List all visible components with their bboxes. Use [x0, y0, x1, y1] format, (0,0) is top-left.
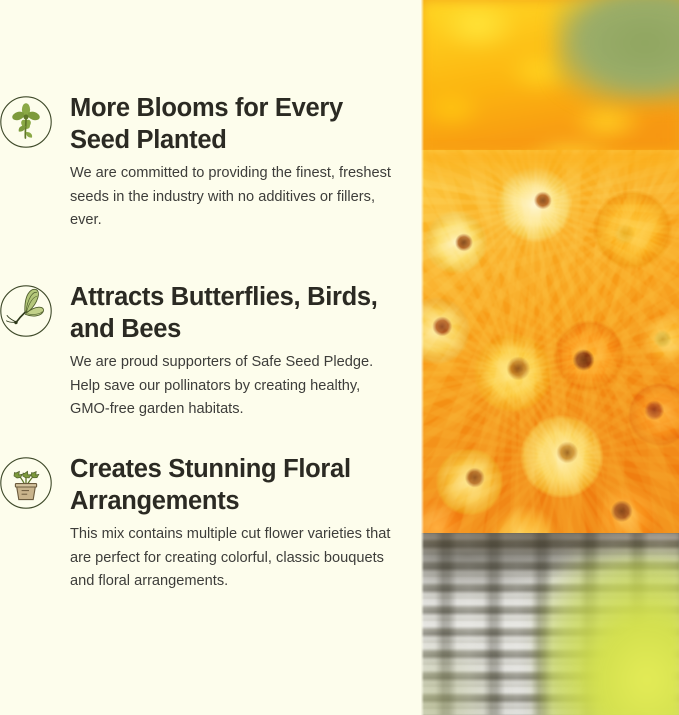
petal-texture-overlay — [421, 150, 679, 570]
feature-body: Creates Stunning Floral Arrangements Thi… — [54, 453, 421, 594]
butterfly-icon — [0, 283, 54, 339]
flower-blur-blend — [421, 150, 679, 186]
feature-title: Attracts Butterflies, Birds, and Bees — [70, 281, 399, 345]
green-foliage-blur — [555, 0, 679, 102]
feature-description: We are committed to providing the finest… — [70, 162, 399, 233]
background-grass-blur-right — [539, 554, 679, 715]
flower-bloom-icon — [0, 94, 54, 150]
feature-description: We are proud supporters of Safe Seed Ple… — [70, 351, 399, 422]
feature-title: Creates Stunning Floral Arrangements — [70, 453, 399, 517]
wicker-basket — [421, 533, 679, 715]
background-grass-blur-left — [421, 645, 497, 715]
feature-item-attracts-pollinators: Attracts Butterflies, Birds, and Bees We… — [0, 281, 421, 422]
potted-plant-icon — [0, 455, 54, 511]
feature-body: More Blooms for Every Seed Planted We ar… — [54, 92, 421, 233]
feature-item-floral-arrangements: Creates Stunning Floral Arrangements Thi… — [0, 453, 421, 594]
product-photo — [421, 0, 679, 715]
feature-title: More Blooms for Every Seed Planted — [70, 92, 399, 156]
feature-item-more-blooms: More Blooms for Every Seed Planted We ar… — [0, 92, 421, 233]
feature-panel-page: More Blooms for Every Seed Planted We ar… — [0, 0, 679, 715]
feature-body: Attracts Butterflies, Birds, and Bees We… — [54, 281, 421, 422]
features-text-panel: More Blooms for Every Seed Planted We ar… — [0, 0, 421, 715]
feature-description: This mix contains multiple cut flower va… — [70, 523, 399, 594]
